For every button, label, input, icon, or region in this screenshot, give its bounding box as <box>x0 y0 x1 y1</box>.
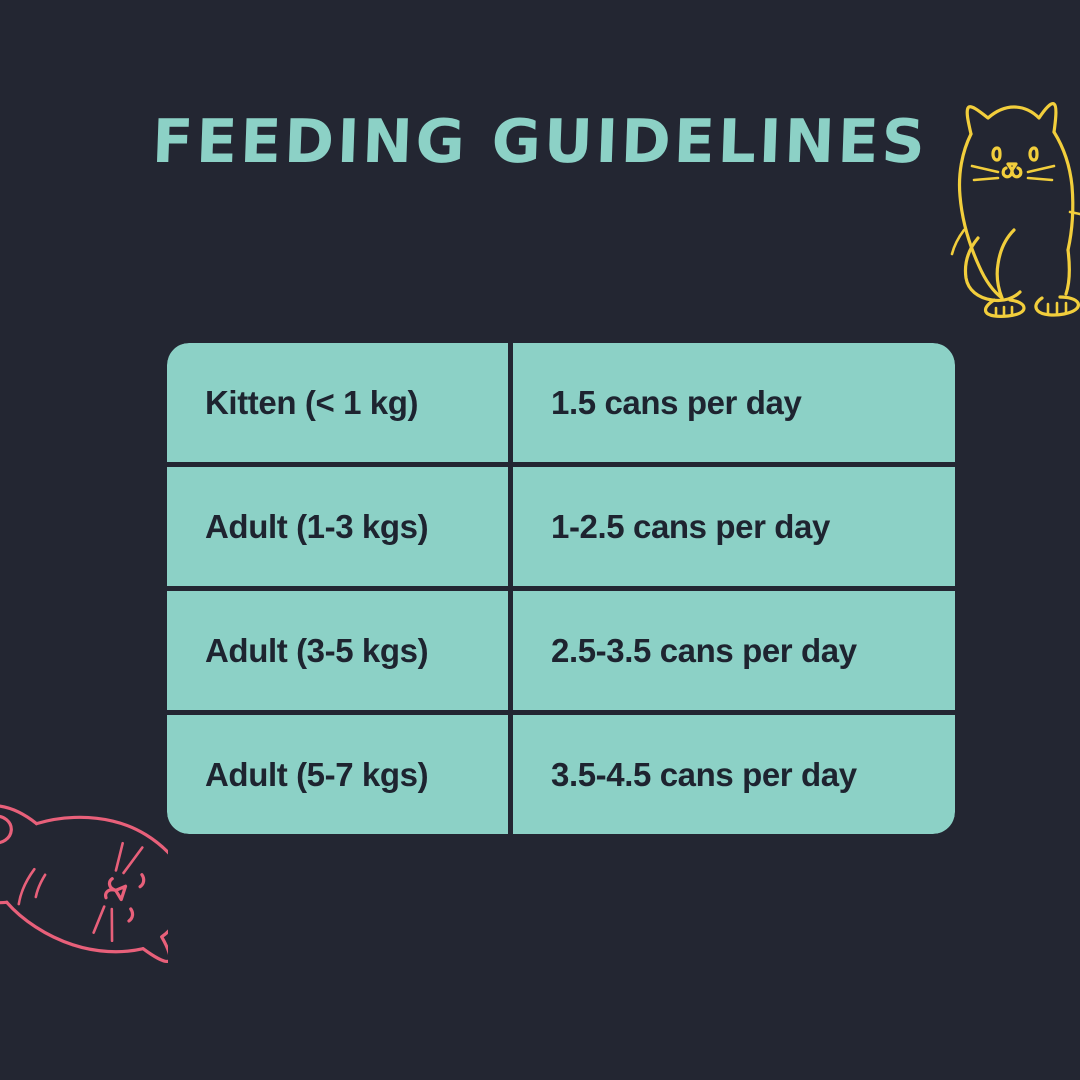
table-row: Adult (1-3 kgs) 1-2.5 cans per day <box>167 467 955 586</box>
weight-range-cell: Adult (1-3 kgs) <box>167 467 508 586</box>
feeding-amount-cell: 2.5-3.5 cans per day <box>513 591 955 710</box>
weight-range-cell: Adult (3-5 kgs) <box>167 591 508 710</box>
feeding-amount-cell: 1.5 cans per day <box>513 343 955 462</box>
feeding-guidelines-table: Kitten (< 1 kg) 1.5 cans per day Adult (… <box>167 343 955 834</box>
table-row: Kitten (< 1 kg) 1.5 cans per day <box>167 343 955 462</box>
weight-range-cell: Kitten (< 1 kg) <box>167 343 508 462</box>
lying-cat-illustration <box>0 700 168 1040</box>
feeding-amount-cell: 1-2.5 cans per day <box>513 467 955 586</box>
feeding-amount-cell: 3.5-4.5 cans per day <box>513 715 955 834</box>
weight-range-cell: Adult (5-7 kgs) <box>167 715 508 834</box>
feeding-guidelines-poster: FEEDING GUIDELINES <box>0 0 1080 1080</box>
table-row: Adult (3-5 kgs) 2.5-3.5 cans per day <box>167 591 955 710</box>
table-row: Adult (5-7 kgs) 3.5-4.5 cans per day <box>167 715 955 834</box>
page-title: FEEDING GUIDELINES <box>0 104 1080 180</box>
